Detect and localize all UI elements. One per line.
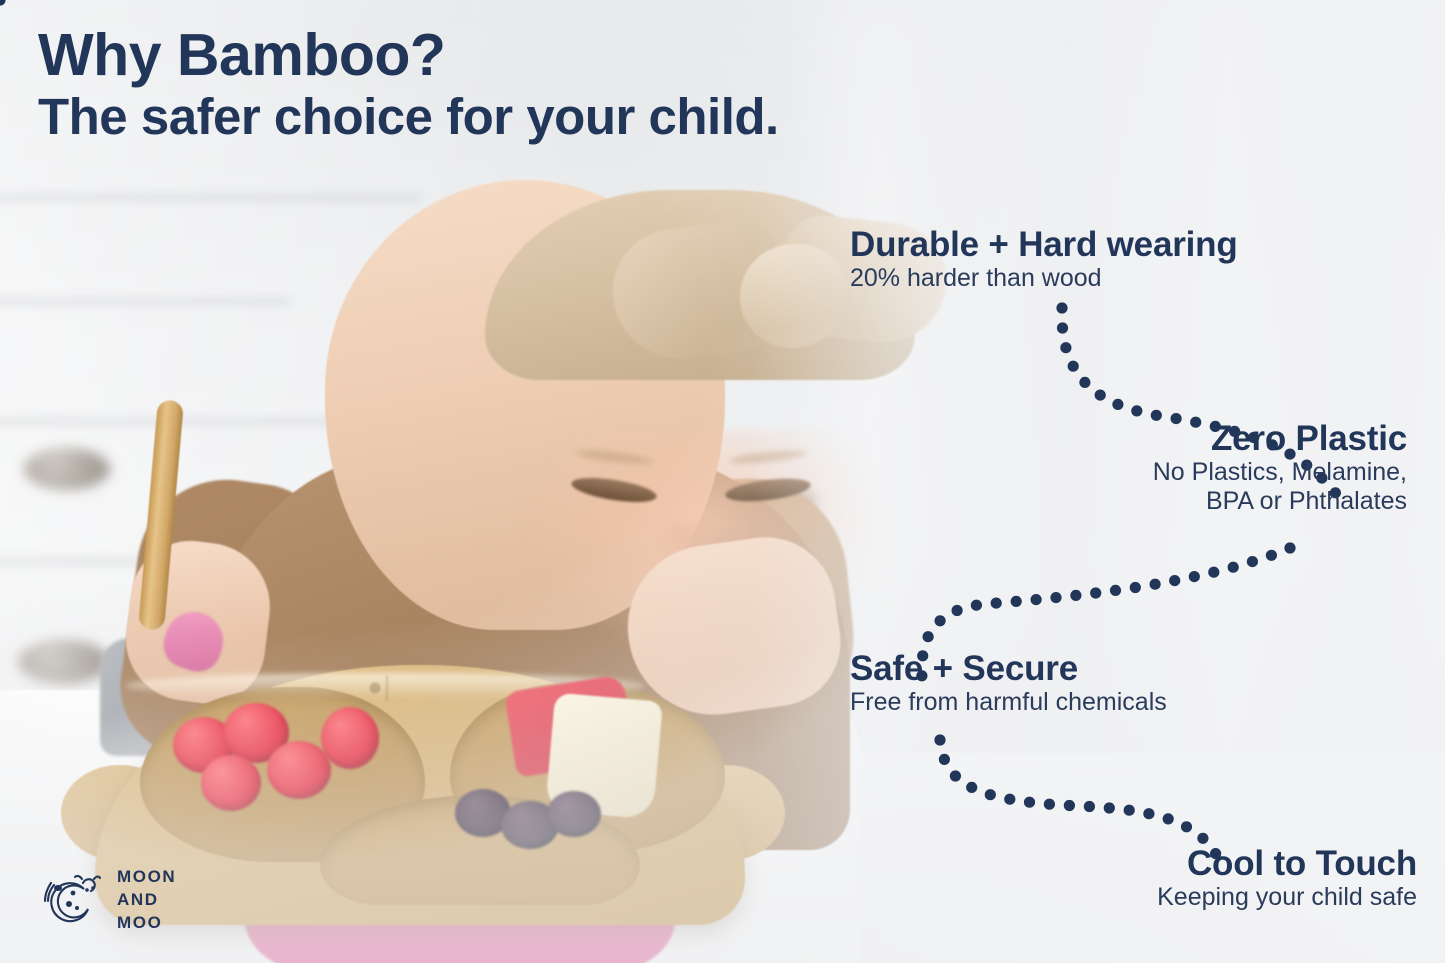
feature-durable: Durable + Hard wearing 20% harder than w… [850, 226, 1238, 293]
brand-line-1: MOON [117, 866, 176, 889]
feature-subtitle-line-2: BPA or Phthalates [1153, 487, 1407, 517]
brand-line-3: MOO [117, 912, 176, 935]
feature-cool-to-touch: Cool to Touch Keeping your child safe [1157, 845, 1417, 912]
infographic-canvas: Why Bamboo? The safer choice for your ch… [0, 0, 1445, 963]
brand-logo: MOON AND MOO [42, 866, 176, 934]
brand-wordmark: MOON AND MOO [117, 866, 176, 934]
feature-subtitle: Free from harmful chemicals [850, 688, 1167, 718]
moon-cow-icon [42, 869, 104, 931]
cabinet-knob [24, 448, 110, 490]
feature-safe-secure: Safe + Secure Free from harmful chemical… [850, 650, 1167, 717]
raspberry [201, 755, 261, 811]
feature-subtitle: Keeping your child safe [1157, 883, 1417, 913]
feature-zero-plastic: Zero Plastic No Plastics, Melamine, BPA … [1153, 420, 1407, 517]
raspberry [267, 741, 331, 799]
feature-title: Zero Plastic [1153, 420, 1407, 458]
feature-subtitle: 20% harder than wood [850, 264, 1238, 294]
page-title: Why Bamboo? The safer choice for your ch… [38, 24, 779, 145]
feature-title: Safe + Secure [850, 650, 1167, 688]
feature-title: Durable + Hard wearing [850, 226, 1238, 264]
feature-subtitle-line-1: No Plastics, Melamine, [1153, 458, 1407, 488]
feature-title: Cool to Touch [1157, 845, 1417, 883]
plate-body [95, 665, 745, 925]
raspberry [321, 707, 379, 769]
headline-line-2: The safer choice for your child. [38, 89, 779, 145]
blackberry [547, 791, 601, 837]
headline-line-1: Why Bamboo? [38, 24, 779, 87]
plate-engraving [363, 675, 475, 701]
bamboo-suction-plate [95, 665, 745, 925]
brand-line-2: AND [117, 889, 176, 912]
